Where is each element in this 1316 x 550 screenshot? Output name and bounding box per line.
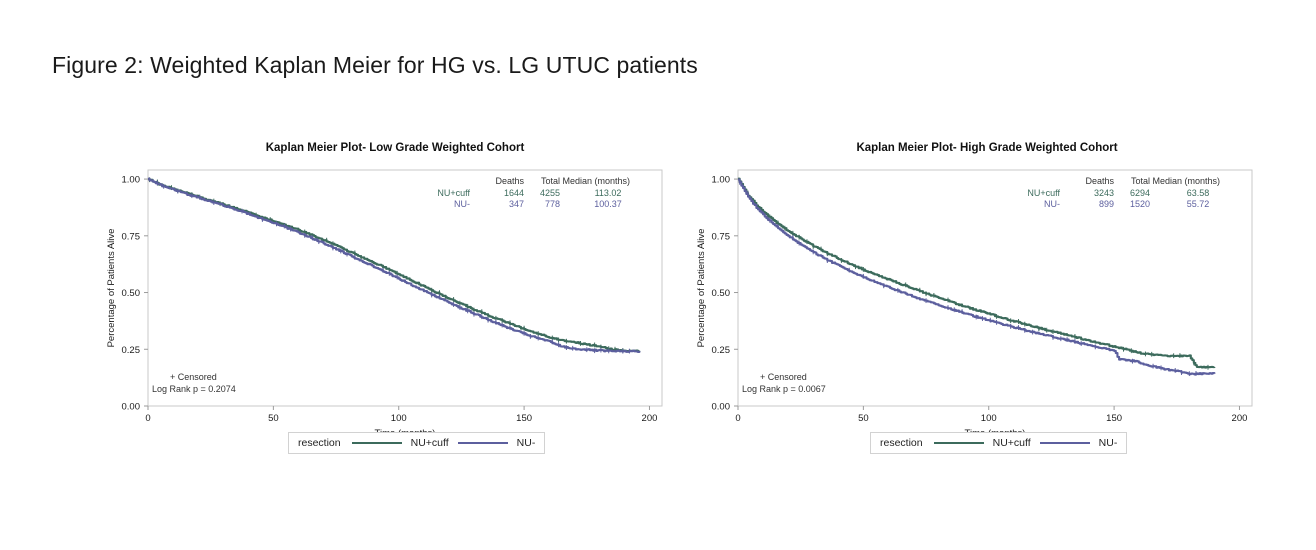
risk-table-row-deaths: 347 [509, 199, 524, 209]
kaplan-meier-panel-low-grade: Kaplan Meier Plot- Low Grade Weighted Co… [90, 140, 670, 460]
legend-label-nu-minus: NU- [1099, 437, 1118, 449]
survival-plot-low-grade: 0.000.250.500.751.00050100150200Time (mo… [90, 156, 670, 446]
legend-title: resection [880, 437, 923, 449]
risk-table-row-label: NU- [454, 199, 470, 209]
risk-table-header-deaths: Deaths [1085, 176, 1114, 186]
x-tick-label: 200 [642, 413, 658, 424]
risk-table-row-total: 4255 [540, 188, 560, 198]
y-tick-label: 0.75 [712, 231, 731, 242]
panel-title: Kaplan Meier Plot- Low Grade Weighted Co… [90, 140, 670, 156]
y-tick-label: 0.25 [712, 345, 731, 356]
legend-label-nu-cuff: NU+cuff [993, 437, 1031, 449]
survival-plot-high-grade: 0.000.250.500.751.00050100150200Time (mo… [680, 156, 1260, 446]
legend-swatch-nu-minus [1040, 442, 1090, 444]
x-tick-label: 50 [858, 413, 869, 424]
risk-table-row-deaths: 1644 [504, 188, 524, 198]
legend-low-grade: resection NU+cuff NU- [288, 432, 545, 454]
risk-table-row-label: NU+cuff [437, 188, 470, 198]
panel-title: Kaplan Meier Plot- High Grade Weighted C… [680, 140, 1260, 156]
y-tick-label: 0.00 [122, 402, 141, 413]
y-tick-label: 1.00 [122, 175, 141, 186]
log-rank-annotation: Log Rank p = 0.2074 [152, 384, 236, 394]
risk-table-header-deaths: Deaths [495, 176, 524, 186]
log-rank-annotation: Log Rank p = 0.0067 [742, 384, 826, 394]
y-tick-label: 0.75 [122, 231, 141, 242]
y-axis-title: Percentage of Patients Alive [106, 229, 117, 348]
risk-table-row-median: 113.02 [595, 188, 622, 198]
risk-table-header-total: Total [1131, 176, 1150, 186]
legend-swatch-nu-cuff [934, 442, 984, 444]
y-tick-label: 0.50 [122, 288, 141, 299]
y-tick-label: 1.00 [712, 175, 731, 186]
x-tick-label: 150 [516, 413, 532, 424]
risk-table-header-median: Median (months) [1152, 176, 1220, 186]
y-tick-label: 0.00 [712, 402, 731, 413]
censored-note: + Censored [170, 372, 217, 382]
x-tick-label: 100 [981, 413, 997, 424]
risk-table-row-label: NU- [1044, 199, 1060, 209]
risk-table-row-median: 100.37 [594, 199, 622, 209]
x-tick-label: 200 [1232, 413, 1248, 424]
censored-note: + Censored [760, 372, 807, 382]
x-tick-label: 100 [391, 413, 407, 424]
legend-title: resection [298, 437, 341, 449]
risk-table-row-total: 1520 [1130, 199, 1150, 209]
x-tick-label: 0 [735, 413, 740, 424]
legend-label-nu-minus: NU- [517, 437, 536, 449]
risk-table-header-total: Total [541, 176, 560, 186]
risk-table-row-deaths: 899 [1099, 199, 1114, 209]
legend-label-nu-cuff: NU+cuff [411, 437, 449, 449]
y-axis-title: Percentage of Patients Alive [696, 229, 707, 348]
y-tick-label: 0.25 [122, 345, 141, 356]
legend-swatch-nu-minus [458, 442, 508, 444]
kaplan-meier-panel-high-grade: Kaplan Meier Plot- High Grade Weighted C… [680, 140, 1260, 460]
x-tick-label: 0 [145, 413, 150, 424]
legend-swatch-nu-cuff [352, 442, 402, 444]
risk-table-row-median: 55.72 [1187, 199, 1210, 209]
risk-table-row-total: 778 [545, 199, 560, 209]
risk-table-header-median: Median (months) [562, 176, 630, 186]
risk-table-row-deaths: 3243 [1094, 188, 1114, 198]
risk-table-row-median: 63.58 [1187, 188, 1210, 198]
figure-title: Figure 2: Weighted Kaplan Meier for HG v… [52, 52, 698, 79]
legend-high-grade: resection NU+cuff NU- [870, 432, 1127, 454]
y-tick-label: 0.50 [712, 288, 731, 299]
risk-table-row-total: 6294 [1130, 188, 1150, 198]
risk-table-row-label: NU+cuff [1027, 188, 1060, 198]
x-tick-label: 150 [1106, 413, 1122, 424]
x-tick-label: 50 [268, 413, 279, 424]
